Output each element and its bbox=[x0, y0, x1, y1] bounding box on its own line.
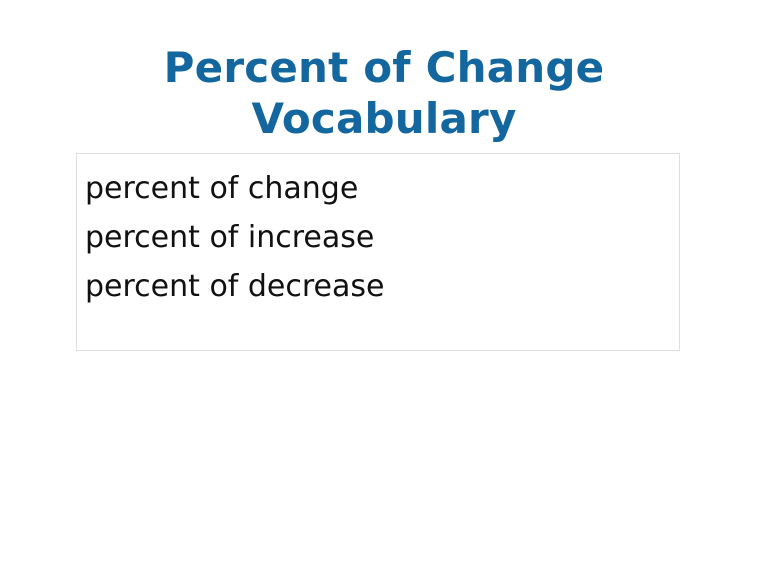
page-title: Percent of Change Vocabulary bbox=[0, 42, 768, 144]
vocabulary-content-box: percent of change percent of increase pe… bbox=[76, 153, 680, 351]
list-item: percent of decrease bbox=[85, 262, 671, 311]
title-line-2: Vocabulary bbox=[0, 93, 768, 144]
list-item: percent of increase bbox=[85, 213, 671, 262]
presentation-slide: Percent of Change Vocabulary percent of … bbox=[0, 0, 768, 576]
list-item: percent of change bbox=[85, 164, 671, 213]
title-line-1: Percent of Change bbox=[0, 42, 768, 93]
vocabulary-list: percent of change percent of increase pe… bbox=[85, 164, 671, 311]
